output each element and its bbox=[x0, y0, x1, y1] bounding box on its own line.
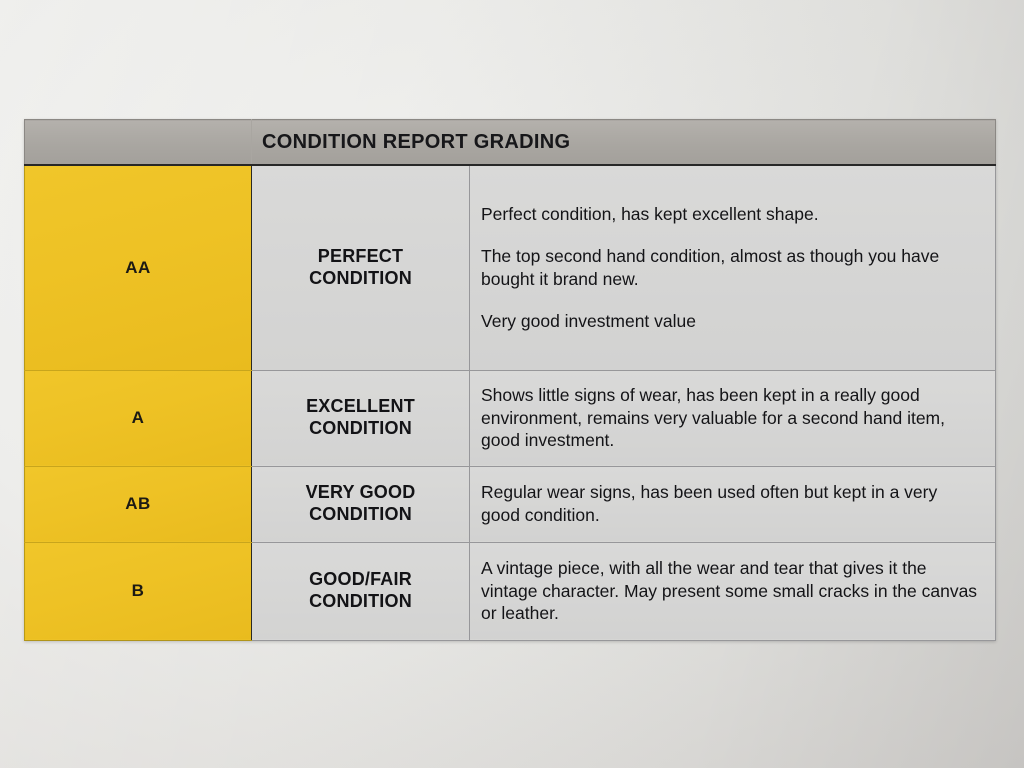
description-paragraph: Shows little signs of wear, has been kep… bbox=[481, 384, 981, 452]
grade-cell-ab: AB bbox=[25, 466, 252, 542]
condition-name-line-1: PERFECT bbox=[252, 246, 469, 268]
description-paragraph: A vintage piece, with all the wear and t… bbox=[481, 557, 981, 625]
description-text: Shows little signs of wear, has been kep… bbox=[481, 384, 981, 452]
condition-name: GOOD/FAIR CONDITION bbox=[252, 569, 469, 613]
condition-name-line-1: EXCELLENT bbox=[252, 396, 469, 418]
grade-cell-b: B bbox=[25, 542, 252, 640]
description-cell-a: Shows little signs of wear, has been kep… bbox=[470, 370, 996, 466]
description-text: Perfect condition, has kept excellent sh… bbox=[481, 203, 981, 332]
condition-name-cell-a: EXCELLENT CONDITION bbox=[252, 370, 470, 466]
table-header-row: CONDITION REPORT GRADING bbox=[25, 120, 996, 166]
table-row: AA PERFECT CONDITION Perfect condition, … bbox=[25, 165, 996, 370]
description-cell-b: A vintage piece, with all the wear and t… bbox=[470, 542, 996, 640]
table-row: B GOOD/FAIR CONDITION A vintage piece, w… bbox=[25, 542, 996, 640]
description-paragraph: Regular wear signs, has been used often … bbox=[481, 481, 981, 527]
description-text: A vintage piece, with all the wear and t… bbox=[481, 557, 981, 625]
description-paragraph: Very good investment value bbox=[481, 310, 981, 333]
condition-name-line-2: CONDITION bbox=[252, 591, 469, 613]
condition-name-line-2: CONDITION bbox=[252, 268, 469, 290]
condition-name-line-1: VERY GOOD bbox=[252, 482, 469, 504]
condition-report-grading-table: CONDITION REPORT GRADING AA PERFECT COND… bbox=[24, 119, 996, 641]
condition-name-cell-b: GOOD/FAIR CONDITION bbox=[252, 542, 470, 640]
condition-name: EXCELLENT CONDITION bbox=[252, 396, 469, 440]
grade-cell-aa: AA bbox=[25, 165, 252, 370]
description-text: Regular wear signs, has been used often … bbox=[481, 481, 981, 527]
header-spacer-cell bbox=[25, 120, 252, 166]
table-row: AB VERY GOOD CONDITION Regular wear sign… bbox=[25, 466, 996, 542]
description-paragraph: The top second hand condition, almost as… bbox=[481, 245, 981, 291]
description-cell-aa: Perfect condition, has kept excellent sh… bbox=[470, 165, 996, 370]
condition-name-cell-ab: VERY GOOD CONDITION bbox=[252, 466, 470, 542]
table-title-cell: CONDITION REPORT GRADING bbox=[252, 120, 996, 166]
condition-name: VERY GOOD CONDITION bbox=[252, 482, 469, 526]
grade-cell-a: A bbox=[25, 370, 252, 466]
condition-name-line-2: CONDITION bbox=[252, 418, 469, 440]
description-paragraph: Perfect condition, has kept excellent sh… bbox=[481, 203, 981, 226]
condition-name-cell-aa: PERFECT CONDITION bbox=[252, 165, 470, 370]
condition-name-line-1: GOOD/FAIR bbox=[252, 569, 469, 591]
grade-label: AA bbox=[125, 258, 151, 277]
table-row: A EXCELLENT CONDITION Shows little signs… bbox=[25, 370, 996, 466]
page-title: CONDITION REPORT GRADING bbox=[262, 131, 570, 153]
condition-name: PERFECT CONDITION bbox=[252, 246, 469, 290]
description-cell-ab: Regular wear signs, has been used often … bbox=[470, 466, 996, 542]
grade-label: AB bbox=[125, 494, 151, 513]
grade-label: A bbox=[132, 408, 145, 427]
grade-label: B bbox=[132, 581, 145, 600]
condition-name-line-2: CONDITION bbox=[252, 504, 469, 526]
